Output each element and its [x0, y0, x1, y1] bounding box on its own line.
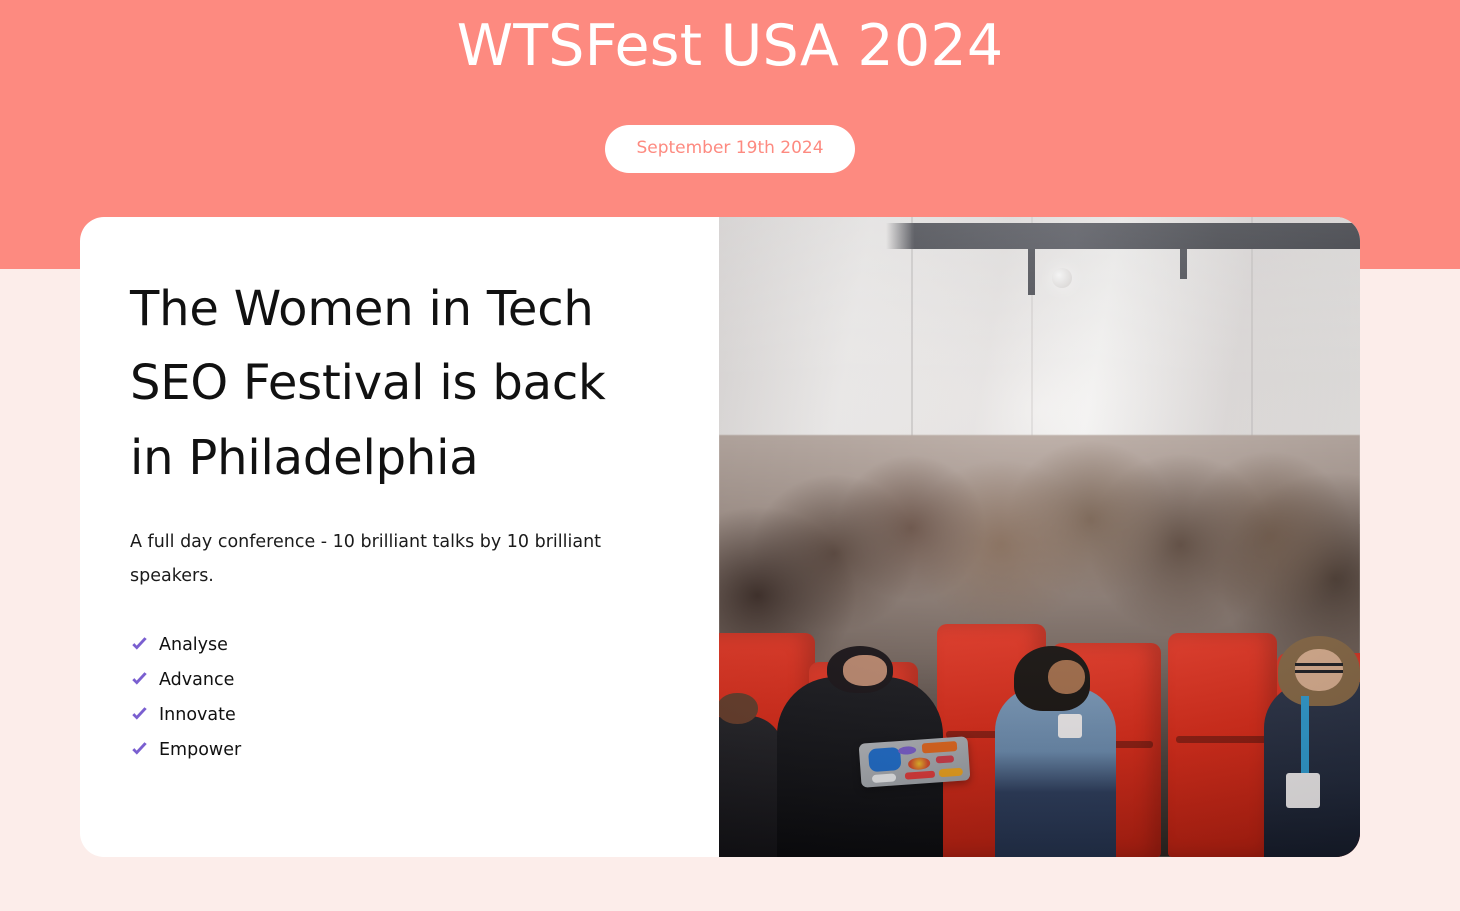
list-item-label: Innovate [159, 705, 236, 725]
check-icon [130, 635, 149, 654]
photo-chair-row [719, 614, 1360, 857]
conference-audience-photo [719, 217, 1360, 857]
list-item: Advance [130, 662, 659, 697]
photo-attendee [995, 687, 1117, 857]
check-icon [130, 705, 149, 724]
photo-attendee [719, 716, 783, 857]
hero-card-media-column [719, 217, 1360, 857]
list-item-label: Empower [159, 740, 241, 760]
date-badge-container: September 19th 2024 [0, 125, 1460, 173]
list-item-label: Advance [159, 670, 234, 690]
list-item: Analyse [130, 627, 659, 662]
list-item: Empower [130, 732, 659, 767]
page-title: WTSFest USA 2024 [0, 14, 1460, 80]
landing-page: WTSFest USA 2024 September 19th 2024 The… [0, 0, 1460, 911]
subheadline: A full day conference - 10 brilliant tal… [130, 525, 650, 593]
headline: The Women in Tech SEO Festival is back i… [130, 272, 659, 495]
photo-attendee [1264, 682, 1360, 857]
list-item: Innovate [130, 697, 659, 732]
event-date-badge: September 19th 2024 [605, 125, 854, 173]
hero-card-text-column: The Women in Tech SEO Festival is back i… [80, 217, 719, 857]
hero-card: The Women in Tech SEO Festival is back i… [80, 217, 1360, 857]
list-item-label: Analyse [159, 635, 228, 655]
photo-red-chair [1168, 633, 1277, 857]
feature-list: Analyse Advance Innovate [130, 627, 659, 767]
photo-ceiling-truss [886, 223, 1360, 249]
check-icon [130, 670, 149, 689]
photo-sticker-laptop [859, 737, 971, 788]
check-icon [130, 740, 149, 759]
